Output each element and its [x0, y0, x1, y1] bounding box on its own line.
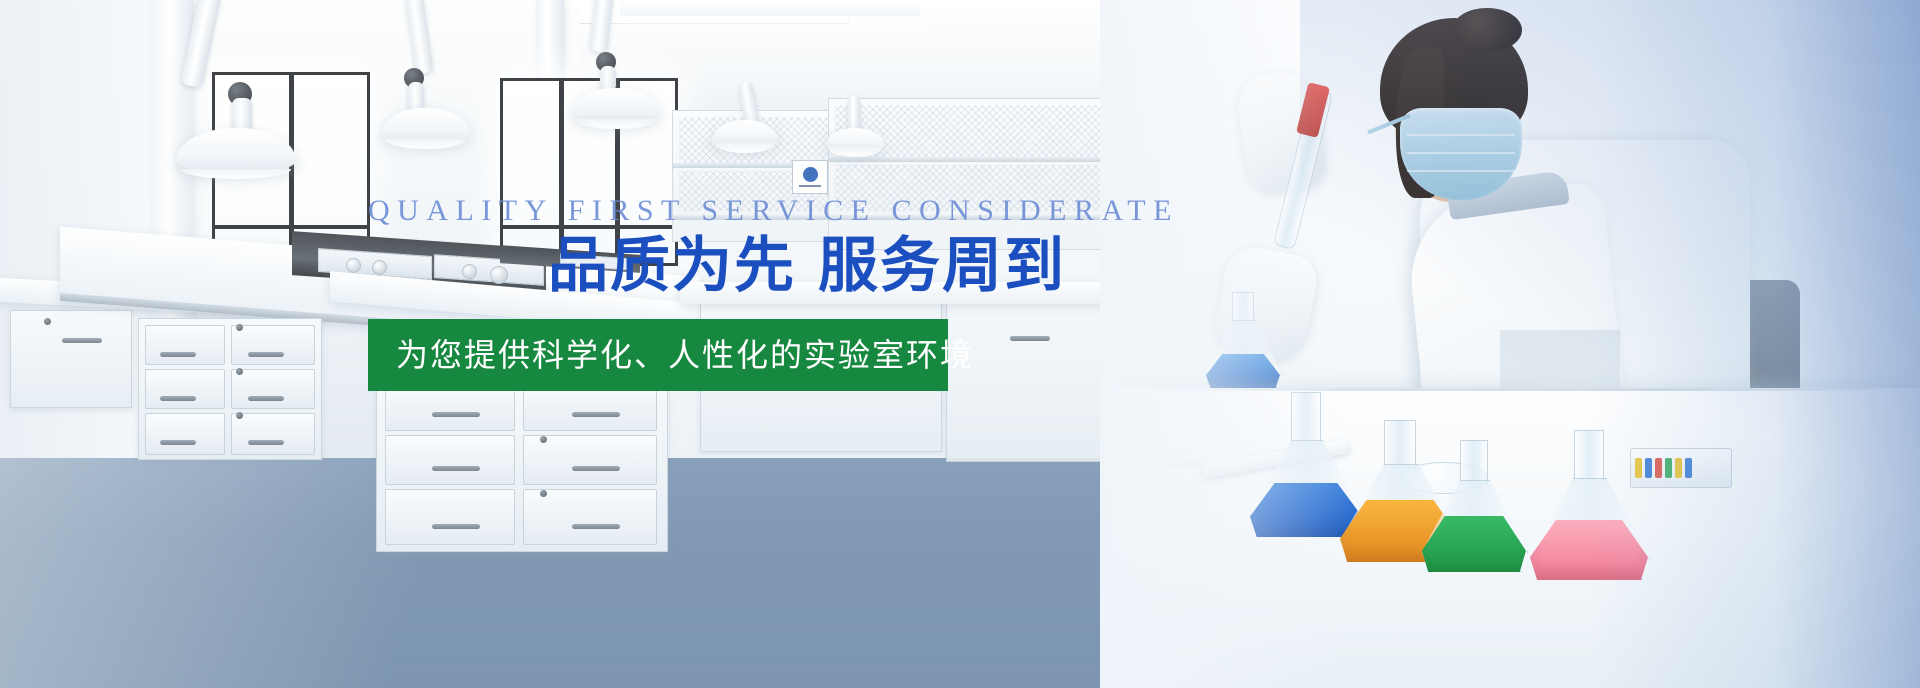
drawer-handle[interactable] — [432, 524, 480, 529]
drawer-handle[interactable] — [572, 466, 620, 471]
drawer-lock-icon — [236, 324, 243, 331]
cabinet-lock-icon — [44, 318, 51, 325]
drawer-handle[interactable] — [432, 412, 480, 417]
drawer-handle[interactable] — [248, 440, 284, 445]
under-bench-cabinet — [10, 310, 132, 408]
drawer[interactable] — [145, 325, 225, 365]
drawer[interactable] — [145, 369, 225, 409]
drawer-column — [376, 372, 668, 552]
drawer-handle[interactable] — [160, 396, 196, 401]
drawer[interactable] — [385, 435, 515, 485]
hero-banner: QUALITY FIRST SERVICE CONSIDERATE 品质为先服务… — [0, 0, 1920, 688]
drawer-handle[interactable] — [248, 396, 284, 401]
drawer-handle[interactable] — [572, 524, 620, 529]
drawer-column — [138, 318, 322, 460]
drawer-handle[interactable] — [160, 352, 196, 357]
drawer[interactable] — [385, 489, 515, 545]
drawer-handle[interactable] — [572, 412, 620, 417]
sign-symbol-icon — [803, 167, 818, 182]
drawer[interactable] — [523, 489, 657, 545]
english-tagline: QUALITY FIRST SERVICE CONSIDERATE — [368, 196, 1068, 226]
drawer-handle[interactable] — [432, 466, 480, 471]
banner-copy: QUALITY FIRST SERVICE CONSIDERATE 品质为先服务… — [368, 196, 1068, 391]
drawer[interactable] — [145, 413, 225, 455]
drawer[interactable] — [231, 325, 315, 365]
drawer-lock-icon — [236, 412, 243, 419]
drawer-lock-icon — [540, 436, 547, 443]
drawer-handle[interactable] — [248, 352, 284, 357]
drawer-lock-icon — [236, 368, 243, 375]
safety-sign — [792, 160, 828, 194]
sign-text-line — [799, 185, 821, 187]
drawer[interactable] — [231, 413, 315, 455]
bench-knob[interactable] — [346, 258, 361, 273]
headline-part-1: 品质为先 — [548, 231, 796, 301]
headline: 品质为先服务周到 — [368, 234, 1068, 299]
drawer-lock-icon — [540, 490, 547, 497]
ceiling-light — [620, 0, 920, 16]
right-edge-blue-wash — [1590, 0, 1920, 688]
subtitle-green-bar: 为您提供科学化、人性化的实验室环境 — [368, 319, 948, 391]
drawer[interactable] — [231, 369, 315, 409]
headline-part-2: 服务周到 — [818, 231, 1066, 301]
drawer-handle[interactable] — [160, 440, 196, 445]
cabinet-handle — [62, 338, 102, 343]
